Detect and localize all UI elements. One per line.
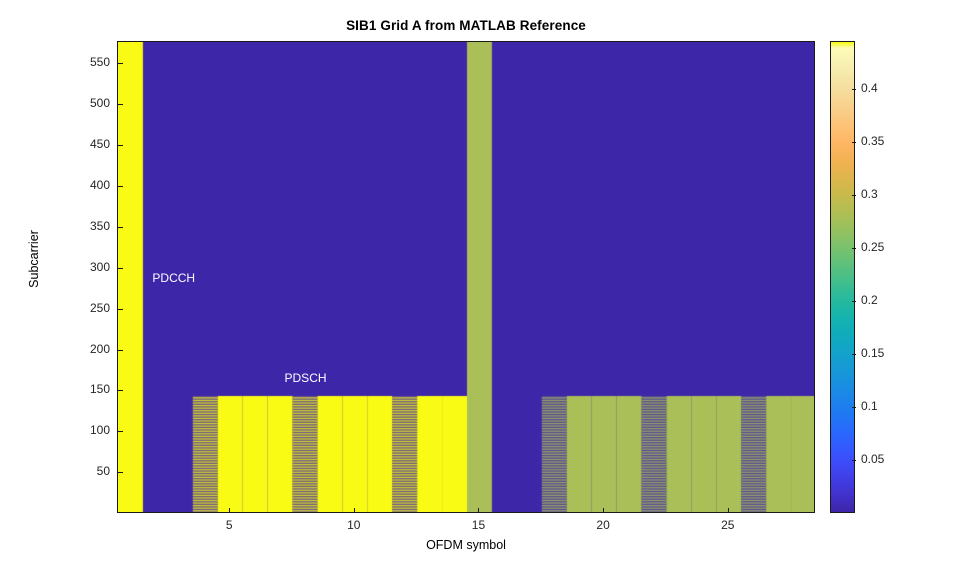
x-tick-mark — [728, 508, 729, 513]
colorbar-gradient — [831, 42, 854, 512]
x-tick-label: 10 — [334, 518, 374, 532]
x-tick-label: 5 — [209, 518, 249, 532]
y-tick-mark — [118, 186, 123, 187]
y-tick-label: 250 — [62, 301, 110, 315]
x-tick-label: 15 — [458, 518, 498, 532]
x-axis-label: OFDM symbol — [117, 538, 815, 552]
y-tick-mark — [118, 431, 123, 432]
y-tick-mark — [118, 104, 123, 105]
colorbar-tick-mark — [852, 301, 856, 302]
x-tick-label: 25 — [708, 518, 748, 532]
colorbar-tick-mark — [852, 460, 856, 461]
y-tick-mark — [118, 390, 123, 391]
y-tick-label: 200 — [62, 342, 110, 356]
colorbar-tick-mark — [852, 89, 856, 90]
y-tick-mark — [118, 63, 123, 64]
colorbar-tick-label: 0.05 — [861, 452, 884, 466]
x-tick-label: 20 — [583, 518, 623, 532]
colorbar-tick-label: 0.15 — [861, 346, 884, 360]
y-tick-mark — [118, 472, 123, 473]
colorbar-tick-mark — [852, 142, 856, 143]
y-tick-mark — [118, 350, 123, 351]
y-tick-label: 450 — [62, 137, 110, 151]
y-tick-mark — [118, 145, 123, 146]
x-tick-mark — [603, 508, 604, 513]
y-tick-mark — [118, 227, 123, 228]
page-title: SIB1 Grid A from MATLAB Reference — [117, 18, 815, 33]
resource-grid-heatmap — [118, 42, 815, 513]
y-tick-label: 550 — [62, 55, 110, 69]
y-tick-label: 100 — [62, 423, 110, 437]
y-tick-label: 300 — [62, 260, 110, 274]
y-axis-label: Subcarrier — [27, 199, 41, 319]
colorbar-tick-label: 0.35 — [861, 134, 884, 148]
colorbar-tick-mark — [852, 354, 856, 355]
y-tick-label: 500 — [62, 96, 110, 110]
y-tick-label: 350 — [62, 219, 110, 233]
x-tick-mark — [229, 508, 230, 513]
colorbar-tick-mark — [852, 407, 856, 408]
y-tick-label: 50 — [62, 464, 110, 478]
y-tick-mark — [118, 309, 123, 310]
colorbar-tick-label: 0.3 — [861, 187, 878, 201]
colorbar-tick-label: 0.1 — [861, 399, 878, 413]
x-tick-mark — [354, 508, 355, 513]
y-tick-mark — [118, 268, 123, 269]
colorbar — [830, 41, 855, 513]
colorbar-tick-label: 0.4 — [861, 81, 878, 95]
y-tick-label: 150 — [62, 382, 110, 396]
colorbar-tick-mark — [852, 248, 856, 249]
matlab-figure: SIB1 Grid A from MATLAB Reference PDCCH … — [0, 0, 959, 577]
colorbar-tick-label: 0.25 — [861, 240, 884, 254]
x-tick-mark — [478, 508, 479, 513]
resource-grid-plot: PDCCH PDSCH — [117, 41, 815, 513]
colorbar-tick-mark — [852, 195, 856, 196]
y-tick-label: 400 — [62, 178, 110, 192]
colorbar-tick-label: 0.2 — [861, 293, 878, 307]
